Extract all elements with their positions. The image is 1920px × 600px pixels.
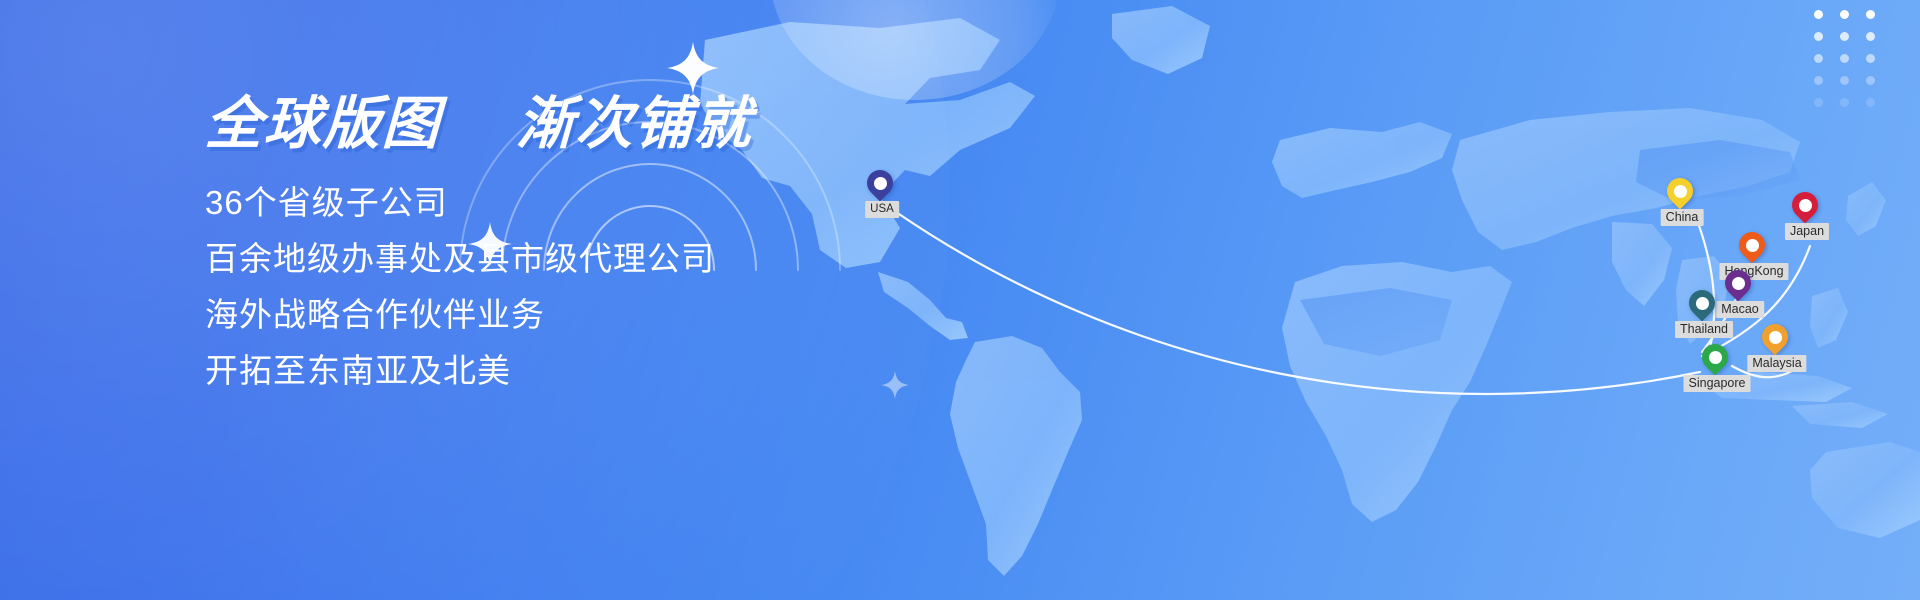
map-pin-label: Macao <box>1716 301 1764 318</box>
map-pin-malaysia[interactable]: Malaysia <box>1762 324 1792 364</box>
pin-center-dot <box>1769 331 1782 344</box>
map-pin-label: Thailand <box>1675 321 1733 338</box>
headline-part-2: 渐次铺就 <box>516 92 754 156</box>
pin-center-dot <box>1709 351 1722 364</box>
banner-copy: 全球版图 渐次铺就 36个省级子公司 百余地级办事处及县市级代理公司 海外战略合… <box>205 96 965 399</box>
map-pin-label: USA <box>865 201 899 218</box>
map-pin-china[interactable]: China <box>1667 178 1697 218</box>
subtitle-line-1: 36个省级子公司 <box>205 175 965 231</box>
subtitle-list: 36个省级子公司 百余地级办事处及县市级代理公司 海外战略合作伙伴业务 开拓至东… <box>205 153 965 399</box>
map-pin-singapore[interactable]: Singapore <box>1702 344 1732 384</box>
map-pin-japan[interactable]: Japan <box>1792 192 1822 232</box>
map-pin-macao[interactable]: Macao <box>1725 270 1755 310</box>
pin-center-dot <box>874 177 887 190</box>
map-pin-thailand[interactable]: Thailand <box>1689 290 1719 330</box>
subtitle-line-4: 开拓至东南亚及北美 <box>205 343 965 399</box>
page-title: 全球版图 渐次铺就 <box>204 96 966 153</box>
map-pin-usa[interactable]: USA <box>867 170 897 210</box>
map-pin-label: China <box>1661 209 1704 226</box>
map-pin-label: Malaysia <box>1747 355 1806 372</box>
global-presence-banner: 全球版图 渐次铺就 36个省级子公司 百余地级办事处及县市级代理公司 海外战略合… <box>0 0 1920 600</box>
subtitle-line-2: 百余地级办事处及县市级代理公司 <box>205 231 965 287</box>
subtitle-line-3: 海外战略合作伙伴业务 <box>205 287 965 343</box>
pin-center-dot <box>1799 199 1812 212</box>
map-pin-label: Japan <box>1785 223 1829 240</box>
map-pin-hongkong[interactable]: HongKong <box>1739 232 1769 272</box>
map-pin-label: Singapore <box>1684 375 1751 392</box>
pin-center-dot <box>1732 277 1745 290</box>
pin-center-dot <box>1746 239 1759 252</box>
pin-center-dot <box>1674 185 1687 198</box>
headline-part-1: 全球版图 <box>204 92 442 156</box>
pin-center-dot <box>1696 297 1709 310</box>
decorative-dot-grid <box>1814 10 1892 120</box>
